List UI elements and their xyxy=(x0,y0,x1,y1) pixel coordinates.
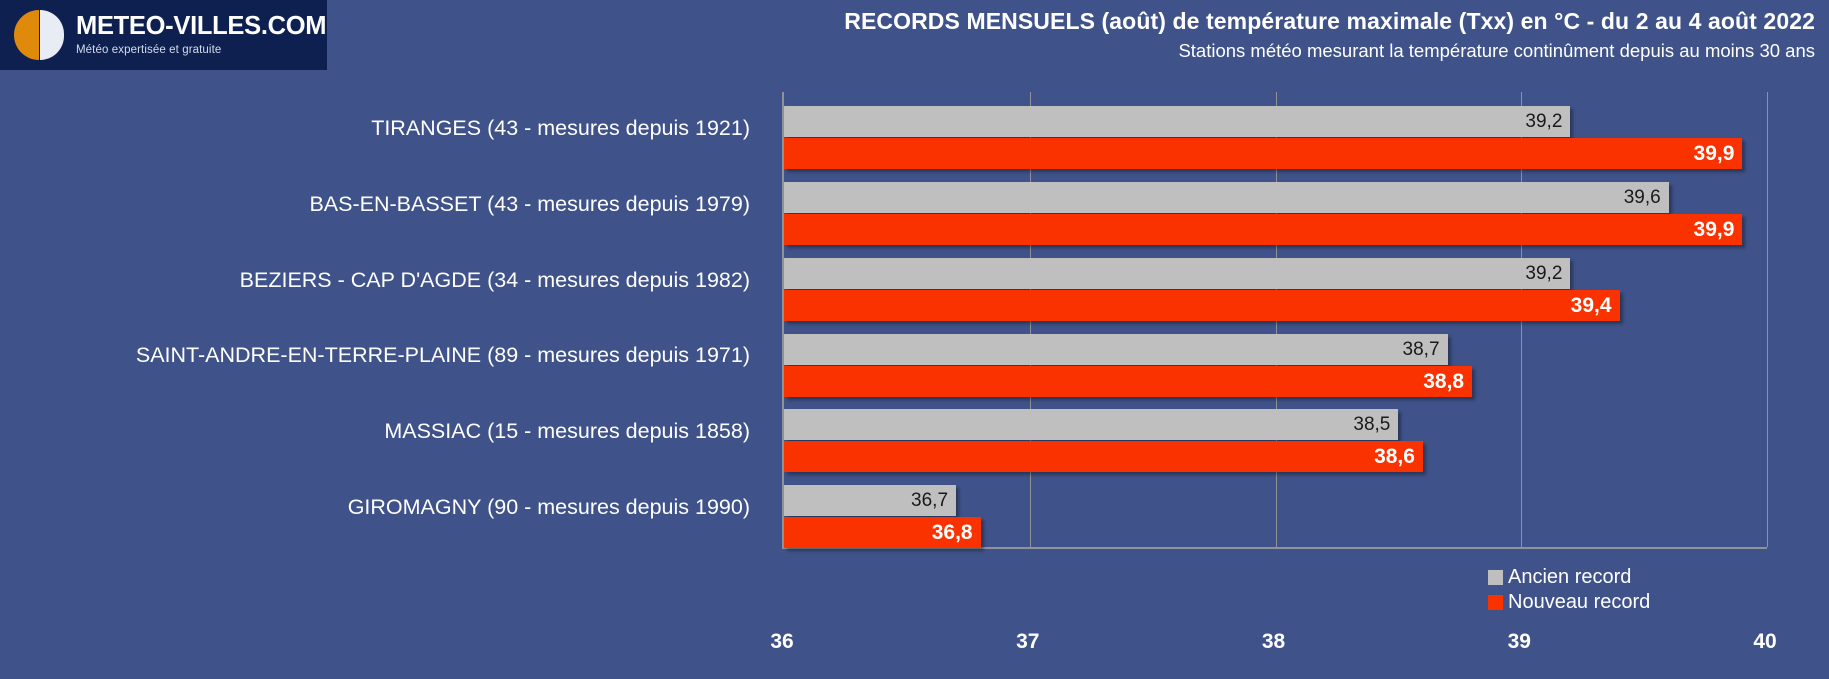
half-circle-logo-icon xyxy=(14,10,64,60)
bar-old-record[interactable]: 39,2 xyxy=(784,106,1570,137)
bar-value-label: 39,2 xyxy=(1525,106,1562,137)
legend-item[interactable]: Ancien record xyxy=(1488,566,1650,589)
gridline xyxy=(1767,92,1768,547)
bar-group: 36,736,8 xyxy=(784,471,1767,547)
brand-name: METEO-VILLES.COM xyxy=(76,14,326,40)
bar-value-label: 39,4 xyxy=(1571,290,1612,321)
bar-value-label: 38,7 xyxy=(1403,334,1440,365)
bar-group: 39,639,9 xyxy=(784,168,1767,244)
x-tick-label: 39 xyxy=(1479,630,1559,654)
bar-value-label: 39,6 xyxy=(1624,182,1661,213)
category-label: GIROMAGNY (90 - mesures depuis 1990) xyxy=(0,495,766,520)
bar-new-record[interactable]: 39,9 xyxy=(784,214,1742,245)
x-tick-label: 37 xyxy=(988,630,1068,654)
bar-value-label: 38,6 xyxy=(1374,441,1415,472)
bar-group: 39,239,4 xyxy=(784,244,1767,320)
brand-tagline: Météo expertisée et gratuite xyxy=(76,45,326,57)
bar-old-record[interactable]: 38,7 xyxy=(784,334,1448,365)
square-swatch-icon xyxy=(1488,595,1503,610)
bar-old-record[interactable]: 36,7 xyxy=(784,485,956,516)
legend-item[interactable]: Nouveau record xyxy=(1488,591,1650,614)
bar-value-label: 39,9 xyxy=(1694,138,1735,169)
logo-right-half xyxy=(40,10,64,60)
legend-label: Ancien record xyxy=(1508,566,1631,589)
chart-page: METEO-VILLES.COM Météo expertisée et gra… xyxy=(0,0,1829,679)
bar-new-record[interactable]: 38,6 xyxy=(784,441,1423,472)
bar-value-label: 38,5 xyxy=(1353,409,1390,440)
x-tick-label: 40 xyxy=(1725,630,1805,654)
category-label: SAINT-ANDRE-EN-TERRE-PLAINE (89 - mesure… xyxy=(0,343,766,368)
brand-logo-box: METEO-VILLES.COM Météo expertisée et gra… xyxy=(0,0,327,70)
chart-title: RECORDS MENSUELS (août) de température m… xyxy=(844,8,1815,35)
bar-old-record[interactable]: 38,5 xyxy=(784,409,1398,440)
bar-group: 38,738,8 xyxy=(784,320,1767,396)
bar-value-label: 38,8 xyxy=(1423,366,1464,397)
bar-group: 38,538,6 xyxy=(784,395,1767,471)
x-tick-label: 36 xyxy=(742,630,822,654)
bar-new-record[interactable]: 39,4 xyxy=(784,290,1620,321)
bar-value-label: 36,7 xyxy=(911,485,948,516)
bar-value-label: 39,2 xyxy=(1525,258,1562,289)
bar-group: 39,239,9 xyxy=(784,92,1767,168)
chart-legend: Ancien recordNouveau record xyxy=(1488,566,1650,614)
bar-value-label: 36,8 xyxy=(932,517,973,548)
plot-area: 39,239,939,639,939,239,438,738,838,538,6… xyxy=(782,92,1767,549)
category-label: MASSIAC (15 - mesures depuis 1858) xyxy=(0,419,766,444)
bar-new-record[interactable]: 39,9 xyxy=(784,138,1742,169)
bar-new-record[interactable]: 38,8 xyxy=(784,366,1472,397)
legend-label: Nouveau record xyxy=(1508,591,1650,614)
logo-left-half xyxy=(14,10,39,60)
square-swatch-icon xyxy=(1488,570,1503,585)
bar-value-label: 39,9 xyxy=(1694,214,1735,245)
x-tick-label: 38 xyxy=(1234,630,1314,654)
category-label: TIRANGES (43 - mesures depuis 1921) xyxy=(0,116,766,141)
category-label: BEZIERS - CAP D'AGDE (34 - mesures depui… xyxy=(0,268,766,293)
category-label: BAS-EN-BASSET (43 - mesures depuis 1979) xyxy=(0,192,766,217)
bar-old-record[interactable]: 39,6 xyxy=(784,182,1669,213)
bar-new-record[interactable]: 36,8 xyxy=(784,517,981,548)
chart-subtitle: Stations météo mesurant la température c… xyxy=(1178,40,1815,62)
brand-text: METEO-VILLES.COM Météo expertisée et gra… xyxy=(76,14,326,56)
bar-old-record[interactable]: 39,2 xyxy=(784,258,1570,289)
